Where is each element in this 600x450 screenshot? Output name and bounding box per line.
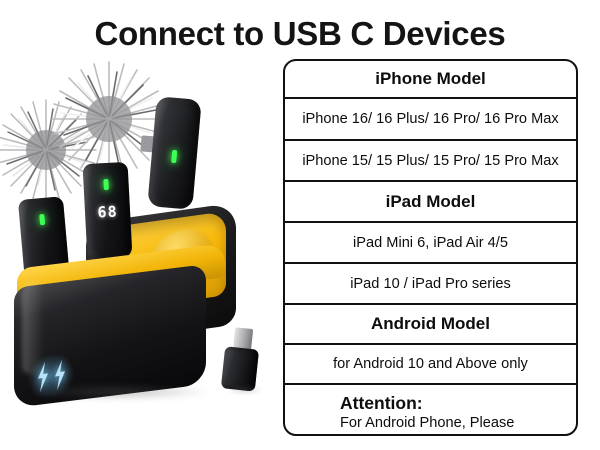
lightning-adapter [221, 326, 261, 391]
lightning-adapter-body [221, 346, 259, 391]
microphone-right-led [103, 179, 109, 190]
product-infographic: Connect to USB C Devices [0, 0, 600, 450]
table-row-iphone-15: iPhone 15/ 15 Plus/ 15 Pro/ 15 Pro Max [285, 141, 576, 182]
attention-line-2: make sure to turn on OTG [340, 433, 576, 437]
table-header-iphone: iPhone Model [285, 61, 576, 99]
table-row-android-10: for Android 10 and Above only [285, 345, 576, 385]
microphone-right-display: 68 [92, 202, 123, 222]
receiver-unit [147, 96, 201, 210]
attention-title: Attention: [340, 392, 576, 414]
charging-case-shadow [26, 384, 210, 400]
page-title: Connect to USB C Devices [0, 14, 600, 54]
table-header-ipad: iPad Model [285, 182, 576, 223]
attention-note: Attention: For Android Phone, Please mak… [285, 385, 576, 436]
table-row-iphone-16: iPhone 16/ 16 Plus/ 16 Pro/ 16 Pro Max [285, 99, 576, 141]
microphone-left-led [39, 214, 45, 225]
table-header-android: Android Model [285, 305, 576, 345]
table-row-ipad-mini-air: iPad Mini 6, iPad Air 4/5 [285, 223, 576, 264]
lightning-adapter-shadow [226, 386, 264, 394]
compatibility-table: iPhone Model iPhone 16/ 16 Plus/ 16 Pro/… [283, 59, 578, 436]
receiver-led [171, 150, 177, 163]
table-row-ipad-10-pro: iPad 10 / iPad Pro series [285, 264, 576, 305]
product-photo: 68 100 [0, 58, 283, 450]
microphone-right: 68 [83, 162, 133, 260]
attention-line-1: For Android Phone, Please [340, 414, 576, 433]
